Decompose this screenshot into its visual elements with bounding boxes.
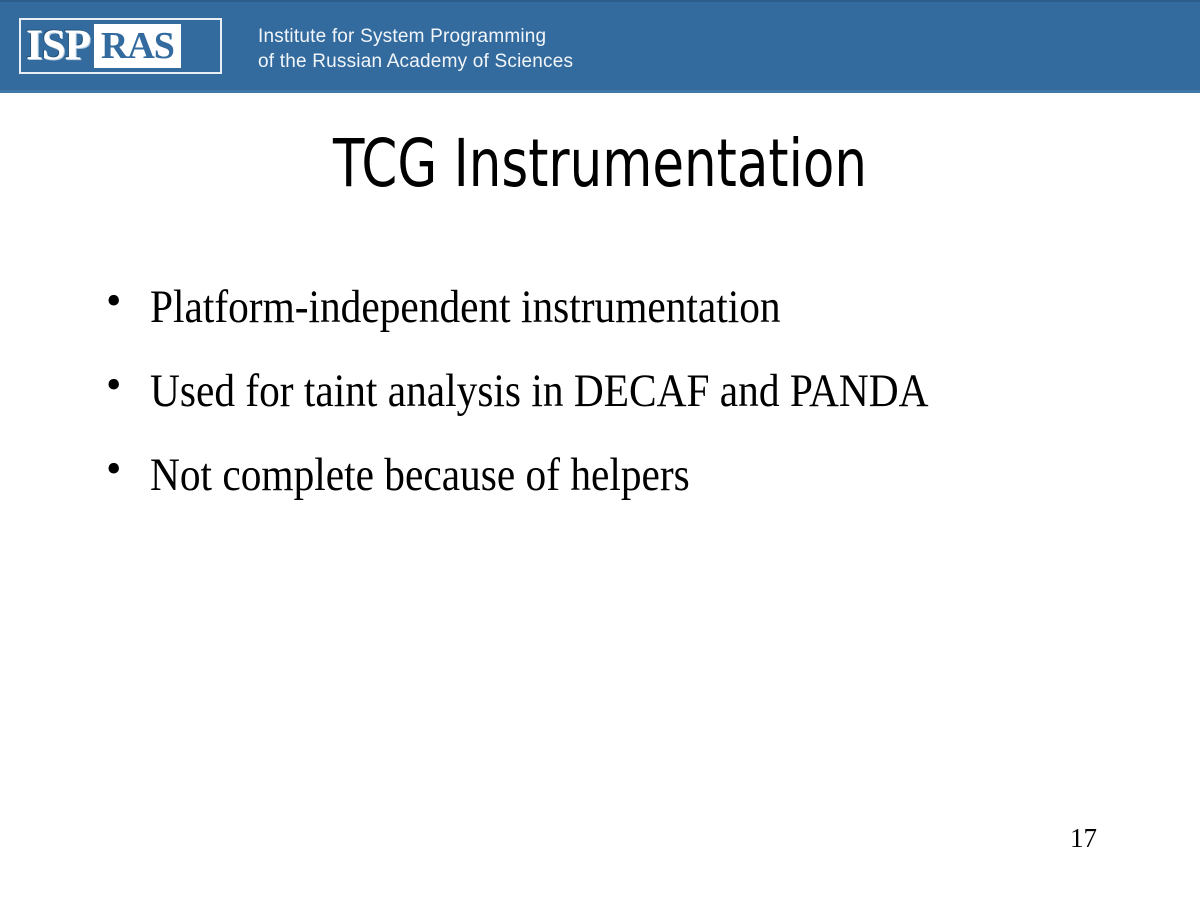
bullet-text: Platform-independent instrumentation [150, 272, 977, 342]
bullet-marker-icon: • [100, 272, 150, 329]
institute-name: Institute for System Programming of the … [258, 24, 573, 74]
bullet-item: • Used for taint analysis in DECAF and P… [100, 356, 1090, 426]
bullet-item: • Not complete because of helpers [100, 440, 1090, 510]
institute-line-1: Institute for System Programming [258, 24, 573, 49]
institute-line-2: of the Russian Academy of Sciences [258, 49, 573, 74]
logo-ras-box: RAS [94, 24, 181, 68]
page-number: 17 [1070, 822, 1130, 854]
ispras-logo: ISP RAS [19, 18, 222, 74]
slide-title: TCG Instrumentation [132, 126, 1068, 202]
logo-ras-text: RAS [101, 26, 174, 66]
bullet-list: • Platform-independent instrumentation •… [100, 272, 1090, 524]
bullet-marker-icon: • [100, 440, 150, 497]
logo-inner: ISP RAS [26, 24, 218, 68]
bullet-marker-icon: • [100, 356, 150, 413]
bullet-text: Used for taint analysis in DECAF and PAN… [150, 356, 977, 426]
logo-isp-text: ISP [26, 24, 94, 68]
bullet-item: • Platform-independent instrumentation [100, 272, 1090, 342]
bullet-text: Not complete because of helpers [150, 440, 977, 510]
